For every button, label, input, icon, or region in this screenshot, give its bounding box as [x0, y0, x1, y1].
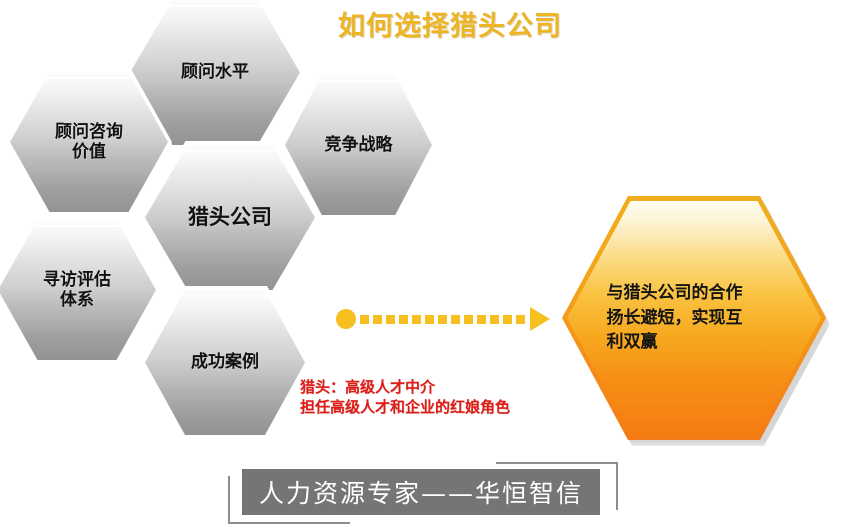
hexagon-advisor-level-label: 顾问水平: [181, 62, 249, 82]
footer-banner: 人力资源专家——华恒智信: [228, 462, 618, 524]
arrow-start-dot-icon: [336, 309, 356, 329]
slide-canvas: 如何选择猎头公司 顾问水平 顾问咨询 价值 竞争战略 猎头公司 寻访评估 体系 …: [0, 0, 854, 526]
banner-box: 人力资源专家——华恒智信: [242, 469, 600, 515]
definition-note: 猎头：高级人才中介 担任高级人才和企业的红娘角色: [300, 377, 510, 418]
hexagon-search-evaluation-label: 寻访评估 体系: [43, 270, 111, 310]
hexagon-headhunting-company[interactable]: 猎头公司: [145, 145, 315, 290]
arrow-dashes: [360, 315, 529, 324]
arrow-head-icon: [530, 307, 550, 331]
banner-text: 人力资源专家——华恒智信: [259, 474, 583, 510]
outcome-hexagon-label: 与猎头公司的合作 扬长避短，实现互 利双赢: [607, 281, 782, 355]
dotted-arrow-right: [336, 306, 544, 332]
hexagon-headhunting-company-label: 猎头公司: [188, 205, 272, 230]
hexagon-advisory-value-label: 顾问咨询 价值: [55, 122, 123, 162]
page-title: 如何选择猎头公司: [300, 4, 600, 43]
hexagon-success-cases-label: 成功案例: [191, 352, 259, 372]
hexagon-competitive-strategy-label: 竞争战略: [325, 135, 393, 155]
